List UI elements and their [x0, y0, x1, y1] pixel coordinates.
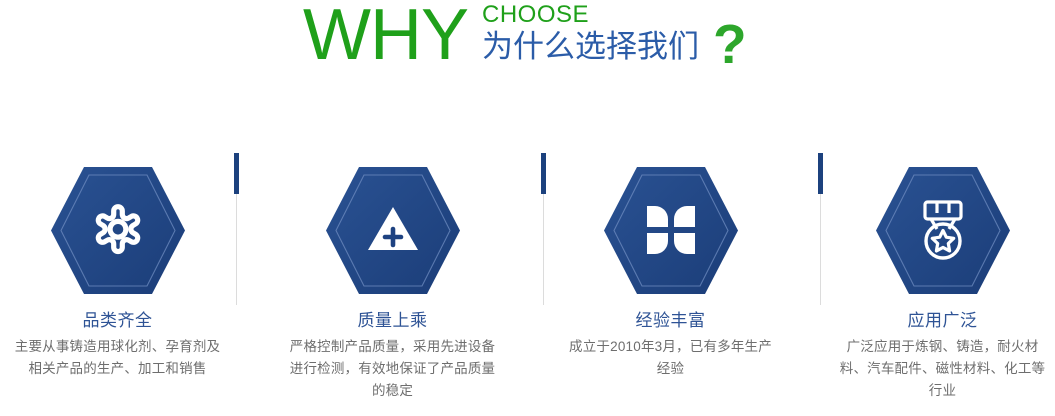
card-title: 品类齐全 — [0, 310, 235, 332]
feature-card-2[interactable]: 质量上乘 严格控制产品质量，采用先进设备进行检测，有效地保证了产品质量的稳定 — [275, 150, 510, 402]
card-description: 成立于2010年3月，已有多年生产经验 — [553, 336, 788, 380]
headline-why: WHY — [303, 0, 468, 72]
card-title: 应用广泛 — [825, 310, 1055, 332]
medal-star-icon — [875, 165, 1011, 296]
triangle-plus-icon — [325, 165, 461, 296]
column-divider-2 — [543, 150, 544, 416]
card-description: 广泛应用于炼钢、铸造，耐火材料、汽车配件、磁性材料、化工等行业 — [825, 336, 1055, 402]
question-mark: ? — [713, 16, 747, 72]
column-divider-3 — [820, 150, 821, 416]
divider-thick-segment — [234, 153, 239, 194]
headline-chinese: 为什么选择我们 — [482, 29, 699, 65]
card-description: 严格控制产品质量，采用先进设备进行检测，有效地保证了产品质量的稳定 — [275, 336, 510, 402]
feature-card-4[interactable]: 应用广泛 广泛应用于炼钢、铸造，耐火材料、汽车配件、磁性材料、化工等行业 — [825, 150, 1055, 402]
feature-card-1[interactable]: 品类齐全 主要从事铸造用球化剂、孕育剂及相关产品的生产、加工和销售 — [0, 150, 235, 380]
card-title: 经验丰富 — [553, 310, 788, 332]
header-inner: WHY CHOOSE 为什么选择我们 ? — [303, 0, 747, 72]
divider-thin-segment — [543, 194, 544, 305]
feature-card-3[interactable]: 经验丰富 成立于2010年3月，已有多年生产经验 — [553, 150, 788, 380]
divider-thin-segment — [820, 194, 821, 305]
divider-thin-segment — [236, 194, 237, 305]
card-title: 质量上乘 — [275, 310, 510, 332]
hexagon-badge-2 — [325, 165, 461, 296]
headline-stack: CHOOSE 为什么选择我们 — [482, 2, 699, 65]
headline-choose: CHOOSE — [482, 2, 699, 28]
column-divider-1 — [236, 150, 237, 416]
clover-icon — [603, 165, 739, 296]
hexagon-badge-3 — [603, 165, 739, 296]
gear-icon — [50, 165, 186, 296]
section-header: WHY CHOOSE 为什么选择我们 ? — [0, 0, 1055, 90]
feature-columns: 品类齐全 主要从事铸造用球化剂、孕育剂及相关产品的生产、加工和销售 — [0, 150, 1055, 416]
divider-thick-segment — [541, 153, 546, 194]
card-description: 主要从事铸造用球化剂、孕育剂及相关产品的生产、加工和销售 — [0, 336, 235, 380]
hexagon-badge-4 — [875, 165, 1011, 296]
divider-thick-segment — [818, 153, 823, 194]
hexagon-badge-1 — [50, 165, 186, 296]
